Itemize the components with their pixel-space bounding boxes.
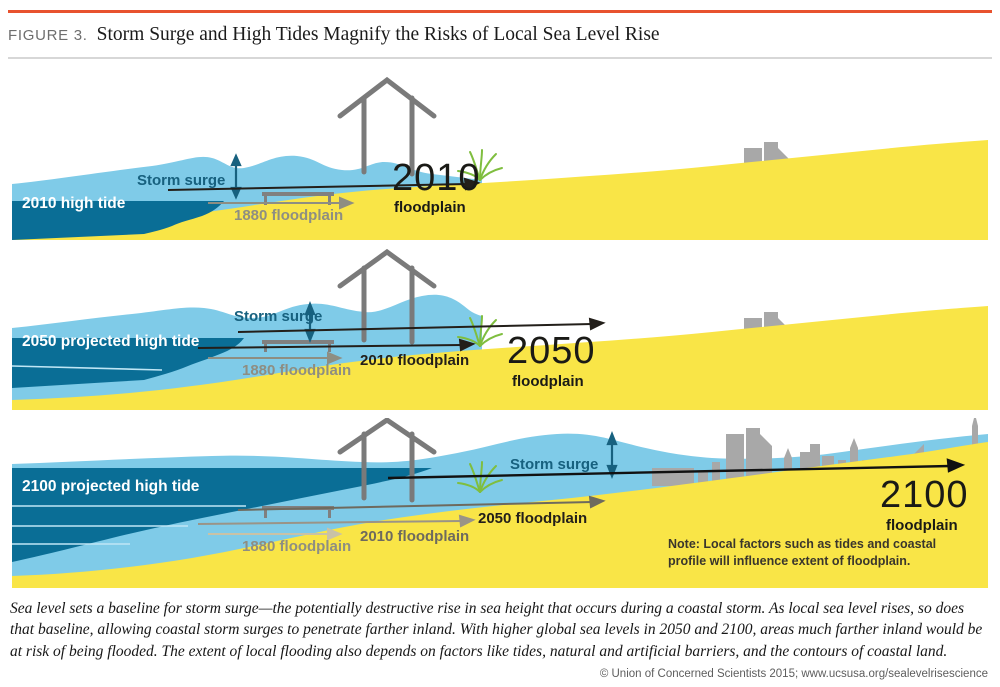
accent-rule xyxy=(8,10,992,13)
label-2100-high-tide: 2100 projected high tide xyxy=(22,478,199,496)
bigyear-2100-sub: floodplain xyxy=(886,518,958,533)
floodplain-note: Note: Local factors such as tides and co… xyxy=(668,536,968,570)
label-2050-storm-surge: Storm surge xyxy=(234,308,322,325)
label-2100-2010-floodplain: 2010 floodplain xyxy=(360,528,469,545)
panel-2010: 2010 high tide Storm surge 1880 floodpla… xyxy=(12,62,988,240)
figure-credit: © Union of Concerned Scientists 2015; ww… xyxy=(600,668,988,680)
panel-2010-graphic xyxy=(12,62,988,240)
bigyear-2050-sub: floodplain xyxy=(512,374,584,389)
label-2010-high-tide: 2010 high tide xyxy=(22,195,125,213)
panel-2050: 2050 projected high tide Storm surge 188… xyxy=(12,248,988,410)
page-title: Storm Surge and High Tides Magnify the R… xyxy=(97,24,660,46)
label-2050-2010-floodplain: 2010 floodplain xyxy=(360,352,469,369)
bigyear-2010: 2010 xyxy=(392,159,481,197)
figure-number: FIGURE 3. xyxy=(8,27,88,44)
panel-2050-graphic xyxy=(12,248,988,410)
label-2050-high-tide: 2050 projected high tide xyxy=(22,333,199,351)
label-2100-1880-floodplain: 1880 floodplain xyxy=(242,538,351,555)
figure-header: FIGURE 3. Storm Surge and High Tides Mag… xyxy=(8,24,992,54)
panel-2100: 2100 projected high tide Storm surge 188… xyxy=(12,418,988,588)
header-divider xyxy=(8,57,992,59)
label-2010-1880-floodplain: 1880 floodplain xyxy=(234,207,343,224)
figure-page: FIGURE 3. Storm Surge and High Tides Mag… xyxy=(0,0,1000,687)
figure-caption: Sea level sets a baseline for storm surg… xyxy=(10,598,990,662)
bigyear-2100: 2100 xyxy=(880,476,969,514)
label-2010-storm-surge: Storm surge xyxy=(137,172,225,189)
bigyear-2050: 2050 xyxy=(507,332,596,370)
label-2100-2050-floodplain: 2050 floodplain xyxy=(478,510,587,527)
label-2050-1880-floodplain: 1880 floodplain xyxy=(242,362,351,379)
label-2100-storm-surge: Storm surge xyxy=(510,456,598,473)
bigyear-2010-sub: floodplain xyxy=(394,200,466,215)
